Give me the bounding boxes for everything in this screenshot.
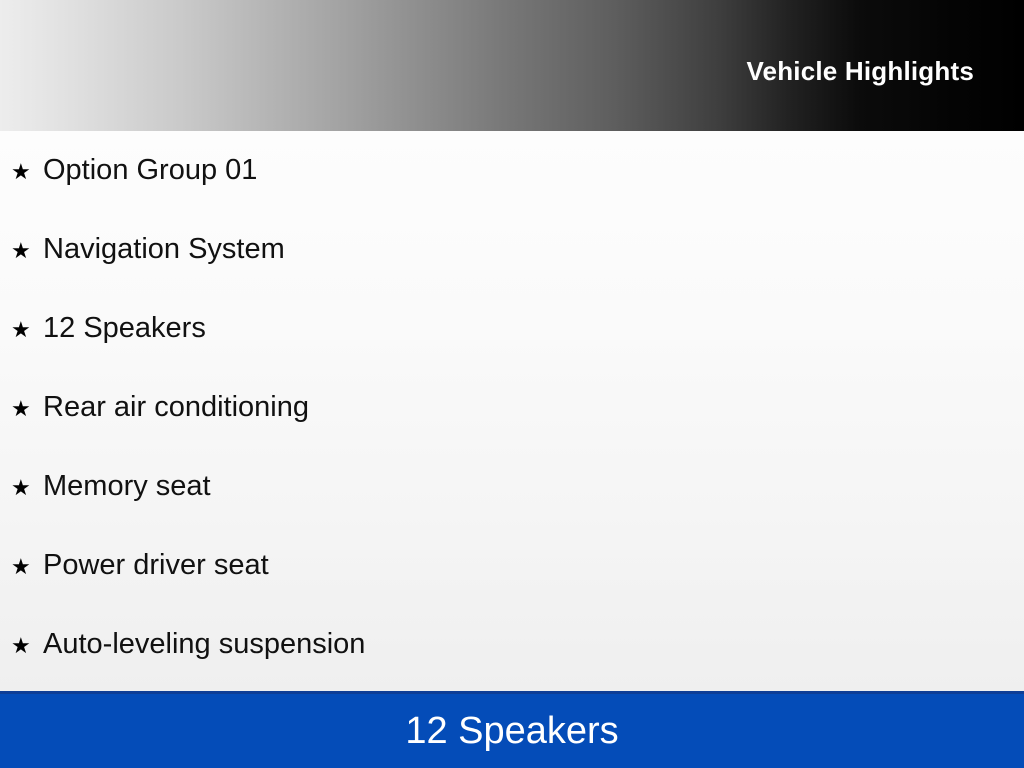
- list-item[interactable]: ★ Option Group 01: [0, 156, 1024, 235]
- list-item[interactable]: ★ Navigation System: [0, 235, 1024, 314]
- list-item[interactable]: ★ 12 Speakers: [0, 314, 1024, 393]
- list-item[interactable]: ★ Memory seat: [0, 472, 1024, 551]
- star-icon: ★: [11, 635, 43, 657]
- star-icon: ★: [11, 556, 43, 578]
- list-item[interactable]: ★ Power driver seat: [0, 551, 1024, 630]
- star-icon: ★: [11, 161, 43, 183]
- star-icon: ★: [11, 240, 43, 262]
- list-item-label: Option Group 01: [43, 156, 257, 185]
- list-item-label: 12 Speakers: [43, 314, 206, 343]
- page-title: Vehicle Highlights: [746, 44, 1024, 87]
- vehicle-highlights-slide: Vehicle Highlights ★ Option Group 01 ★ N…: [0, 0, 1024, 768]
- footer-bar: 12 Speakers: [0, 691, 1024, 768]
- star-icon: ★: [11, 398, 43, 420]
- highlights-body: ★ Option Group 01 ★ Navigation System ★ …: [0, 131, 1024, 691]
- list-item-label: Rear air conditioning: [43, 393, 309, 422]
- list-item-label: Auto-leveling suspension: [43, 630, 365, 659]
- star-icon: ★: [11, 319, 43, 341]
- list-item-label: Memory seat: [43, 472, 211, 501]
- list-item[interactable]: ★ Rear air conditioning: [0, 393, 1024, 472]
- footer-caption: 12 Speakers: [405, 712, 618, 750]
- header-band: Vehicle Highlights: [0, 0, 1024, 131]
- list-item[interactable]: ★ Auto-leveling suspension: [0, 630, 1024, 691]
- list-item-label: Navigation System: [43, 235, 285, 264]
- list-item-label: Power driver seat: [43, 551, 269, 580]
- highlights-list: ★ Option Group 01 ★ Navigation System ★ …: [0, 156, 1024, 691]
- star-icon: ★: [11, 477, 43, 499]
